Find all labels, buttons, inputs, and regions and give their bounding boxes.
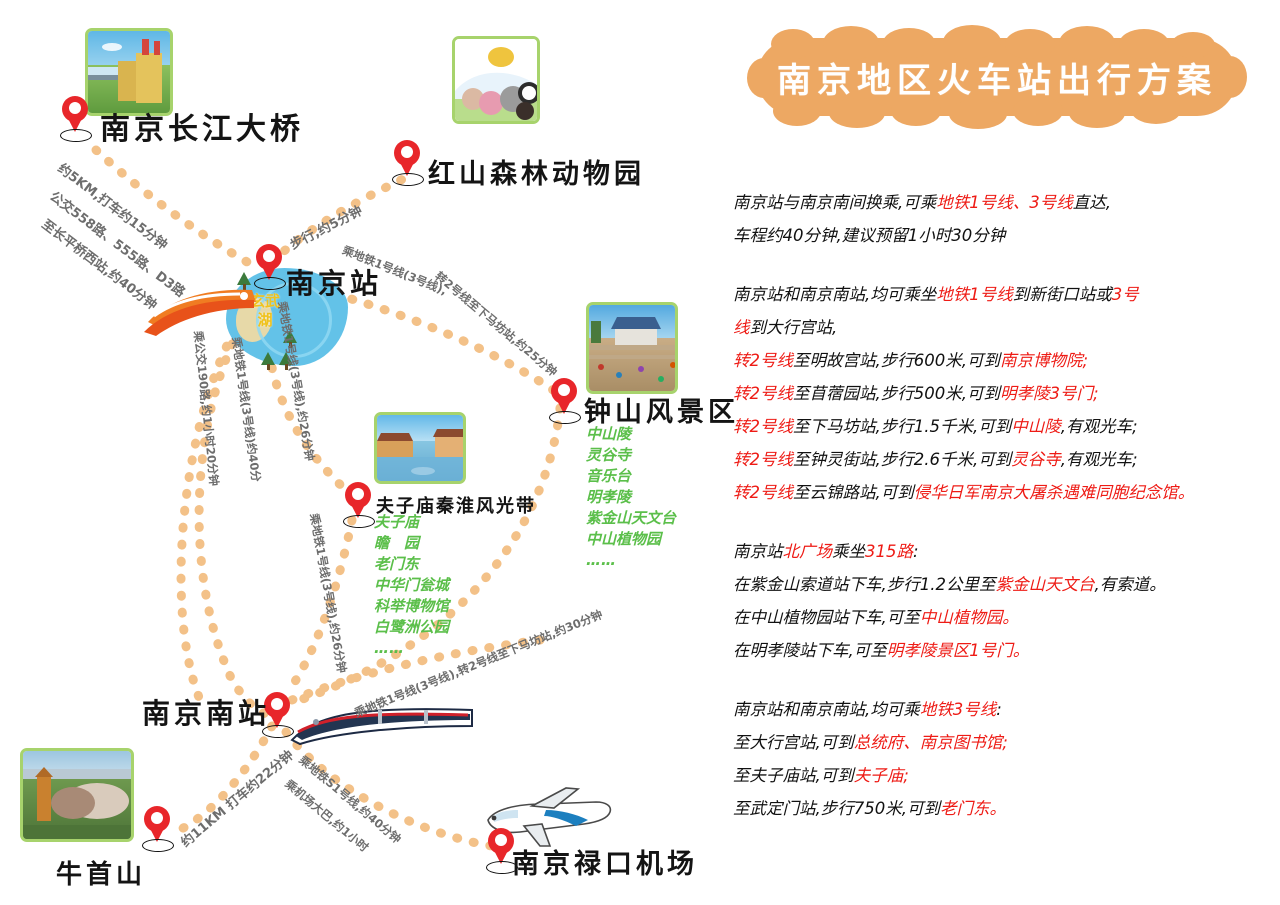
info-span: 车程约40分钟,建议预留1小时30分钟: [733, 226, 1005, 245]
info-line: 至夫子庙站,可到夫子庙;: [733, 759, 1263, 792]
info-span-hl: 紫金山天文台: [996, 575, 1095, 594]
info-span: 南京站: [733, 542, 783, 561]
info-span: 至苜蓿园站,步行500米,可到: [793, 384, 1000, 403]
info-span-hl: 地铁1号线: [936, 285, 1013, 304]
info-paragraph-3: 南京站北广场乘坐315路: 在紫金山索道站下车,步行1.2公里至紫金山天文台,有…: [733, 535, 1263, 667]
info-line: 至武定门站,步行750米,可到老门东。: [733, 792, 1263, 825]
info-line: 转2号线至下马坊站,步行1.5千米,可到中山陵,有观光车;: [733, 410, 1263, 443]
title-banner: 南京地区火车站出行方案: [757, 38, 1237, 116]
info-span: 在中山植物园站下车,可至: [733, 608, 920, 627]
poi-item: 白鹭洲公园: [374, 617, 449, 638]
info-span-hl: 灵谷寺: [1011, 450, 1061, 469]
pin-changjiang-bridge[interactable]: [62, 96, 88, 134]
info-span-hl: 南京博物院;: [1000, 351, 1088, 370]
info-line: 在中山植物园站下车,可至中山植物园。: [733, 601, 1263, 634]
poi-item: 中华门瓮城: [374, 575, 449, 596]
info-line: 转2号线至明故宫站,步行600米,可到南京博物院;: [733, 344, 1263, 377]
poi-item: 灵谷寺: [586, 445, 676, 466]
info-span: 至武定门站,步行750米,可到: [733, 799, 940, 818]
info-span: 至钟灵街站,步行2.6千米,可到: [793, 450, 1011, 469]
place-label-nanjing-south-station: 南京南站: [142, 692, 270, 732]
poi-list-fuzimiao: 夫子庙 瞻 园 老门东 中华门瓮城 科举博物馆 白鹭洲公园 ……: [374, 512, 449, 659]
info-span-hl: 转2号线: [733, 417, 793, 436]
info-span: :: [913, 542, 919, 561]
pin-zhongshan-scenic[interactable]: [551, 378, 577, 416]
info-span-hl: 地铁1号线、3号线: [936, 193, 1073, 212]
info-span: 到新街口站或: [1013, 285, 1112, 304]
info-paragraph-2: 南京站和南京南站,均可乘坐地铁1号线到新街口站或3号 线到大行宫站, 转2号线至…: [733, 278, 1263, 509]
route-label-south-niushou: 约11KM 打车约22分钟: [176, 745, 297, 851]
info-line: 转2号线至云锦路站,可到侵华日军南京大屠杀遇难同胞纪念馆。: [733, 476, 1263, 509]
route-label-station-zhongshan-b: 转2号线至下马坊站,约25分钟: [432, 268, 561, 380]
info-span-hl: 侵华日军南京大屠杀遇难同胞纪念馆。: [914, 483, 1195, 502]
pin-nanjing-station[interactable]: [256, 244, 282, 282]
info-span: 直达,: [1073, 193, 1111, 212]
info-paragraph-1: 南京站与南京南间换乘,可乘地铁1号线、3号线直达, 车程约40分钟,建议预留1小…: [733, 186, 1263, 252]
info-span-hl: 中山植物园。: [920, 608, 1019, 627]
info-span-hl: 夫子庙;: [854, 766, 909, 785]
poi-list-zhongshan: 中山陵 灵谷寺 音乐台 明孝陵 紫金山天文台 中山植物园 ……: [586, 424, 676, 571]
info-span: 南京站和南京南站,均可乘: [733, 700, 920, 719]
info-span: :: [996, 700, 1002, 719]
info-span: 南京站与南京南间换乘,可乘: [733, 193, 936, 212]
map-region: 玄武湖: [0, 0, 730, 905]
poi-item: 老门东: [374, 554, 449, 575]
poi-item: ……: [374, 638, 449, 659]
info-line: 车程约40分钟,建议预留1小时30分钟: [733, 219, 1263, 252]
info-span-hl: 转2号线: [733, 351, 793, 370]
poi-item: 中山陵: [586, 424, 676, 445]
info-line: 南京站北广场乘坐315路:: [733, 535, 1263, 568]
info-line: 转2号线至苜蓿园站,步行500米,可到明孝陵3号门;: [733, 377, 1263, 410]
pin-fuzimiao[interactable]: [345, 482, 371, 520]
info-span-hl: 转2号线: [733, 483, 793, 502]
photo-zhongshan-scenic: [586, 302, 678, 394]
poi-item: 夫子庙: [374, 512, 449, 533]
place-label-lukou-airport: 南京禄口机场: [512, 842, 698, 881]
route-label-station-niushou: 乘公交190路,约1小时20分钟: [190, 330, 222, 487]
info-span: 至下马坊站,步行1.5千米,可到: [793, 417, 1011, 436]
info-span: 南京站和南京南站,均可乘坐: [733, 285, 936, 304]
photo-changjiang-bridge: [85, 28, 173, 116]
info-span: 到大行宫站,: [750, 318, 838, 337]
route-label-south-fuzimiao: 乘地铁1号线(3号线),约26分钟: [306, 512, 350, 674]
page-title: 南京地区火车站出行方案: [757, 38, 1237, 116]
poi-item: 明孝陵: [586, 487, 676, 508]
poi-item: 紫金山天文台: [586, 508, 676, 529]
poi-item: 科举博物馆: [374, 596, 449, 617]
place-label-changjiang-bridge: 南京长江大桥: [100, 104, 304, 148]
poi-item: 音乐台: [586, 466, 676, 487]
info-line: 在紫金山索道站下车,步行1.2公里至紫金山天文台,有索道。: [733, 568, 1263, 601]
photo-hongshan-zoo: [452, 36, 540, 124]
info-span: 在明孝陵站下车,可至: [733, 641, 887, 660]
place-label-hongshan-zoo: 红山森林动物园: [428, 152, 645, 191]
info-span-hl: 线: [733, 318, 750, 337]
info-span-hl: 315路: [865, 542, 913, 561]
poster-canvas: 玄武湖: [0, 0, 1280, 905]
info-span-hl: 转2号线: [733, 450, 793, 469]
info-span: 至云锦路站,可到: [793, 483, 914, 502]
info-line: 南京站和南京南站,均可乘地铁3号线:: [733, 693, 1263, 726]
info-panel: 南京站与南京南间换乘,可乘地铁1号线、3号线直达, 车程约40分钟,建议预留1小…: [733, 186, 1263, 851]
info-span-hl: 北广场: [783, 542, 833, 561]
info-span: ,有观光车;: [1061, 417, 1138, 436]
info-span-hl: 老门东。: [940, 799, 1006, 818]
info-span-hl: 地铁3号线: [920, 700, 997, 719]
pin-niushou-mountain[interactable]: [144, 806, 170, 844]
info-span: ,有索道。: [1095, 575, 1166, 594]
photo-fuzimiao: [374, 412, 466, 484]
info-span: 至大行宫站,可到: [733, 733, 854, 752]
info-line: 在明孝陵站下车,可至明孝陵景区1号门。: [733, 634, 1263, 667]
poi-item: 中山植物园: [586, 529, 676, 550]
info-span: 至夫子庙站,可到: [733, 766, 854, 785]
info-span-hl: 3号: [1112, 285, 1139, 304]
info-span-hl: 总统府、南京图书馆;: [854, 733, 1008, 752]
photo-niushou-mountain: [20, 748, 134, 842]
info-line: 南京站和南京南站,均可乘坐地铁1号线到新街口站或3号: [733, 278, 1263, 311]
pin-lukou-airport[interactable]: [488, 828, 514, 866]
info-line: 南京站与南京南间换乘,可乘地铁1号线、3号线直达,: [733, 186, 1263, 219]
info-span-hl: 转2号线: [733, 384, 793, 403]
info-span-hl: 明孝陵3号门;: [1000, 384, 1099, 403]
place-label-niushou-mountain: 牛首山: [56, 854, 146, 891]
poi-item: 瞻 园: [374, 533, 449, 554]
info-span: 在紫金山索道站下车,步行1.2公里至: [733, 575, 996, 594]
info-line: 至大行宫站,可到总统府、南京图书馆;: [733, 726, 1263, 759]
info-span: ,有观光车;: [1061, 450, 1138, 469]
poi-item: ……: [586, 550, 676, 571]
info-span: 至明故宫站,步行600米,可到: [793, 351, 1000, 370]
info-line: 转2号线至钟灵街站,步行2.6千米,可到灵谷寺,有观光车;: [733, 443, 1263, 476]
info-paragraph-4: 南京站和南京南站,均可乘地铁3号线: 至大行宫站,可到总统府、南京图书馆; 至夫…: [733, 693, 1263, 825]
pin-hongshan-zoo[interactable]: [394, 140, 420, 178]
info-span: 乘坐: [832, 542, 865, 561]
info-span-hl: 明孝陵景区1号门。: [887, 641, 1030, 660]
info-span-hl: 中山陵: [1011, 417, 1061, 436]
info-line: 线到大行宫站,: [733, 311, 1263, 344]
